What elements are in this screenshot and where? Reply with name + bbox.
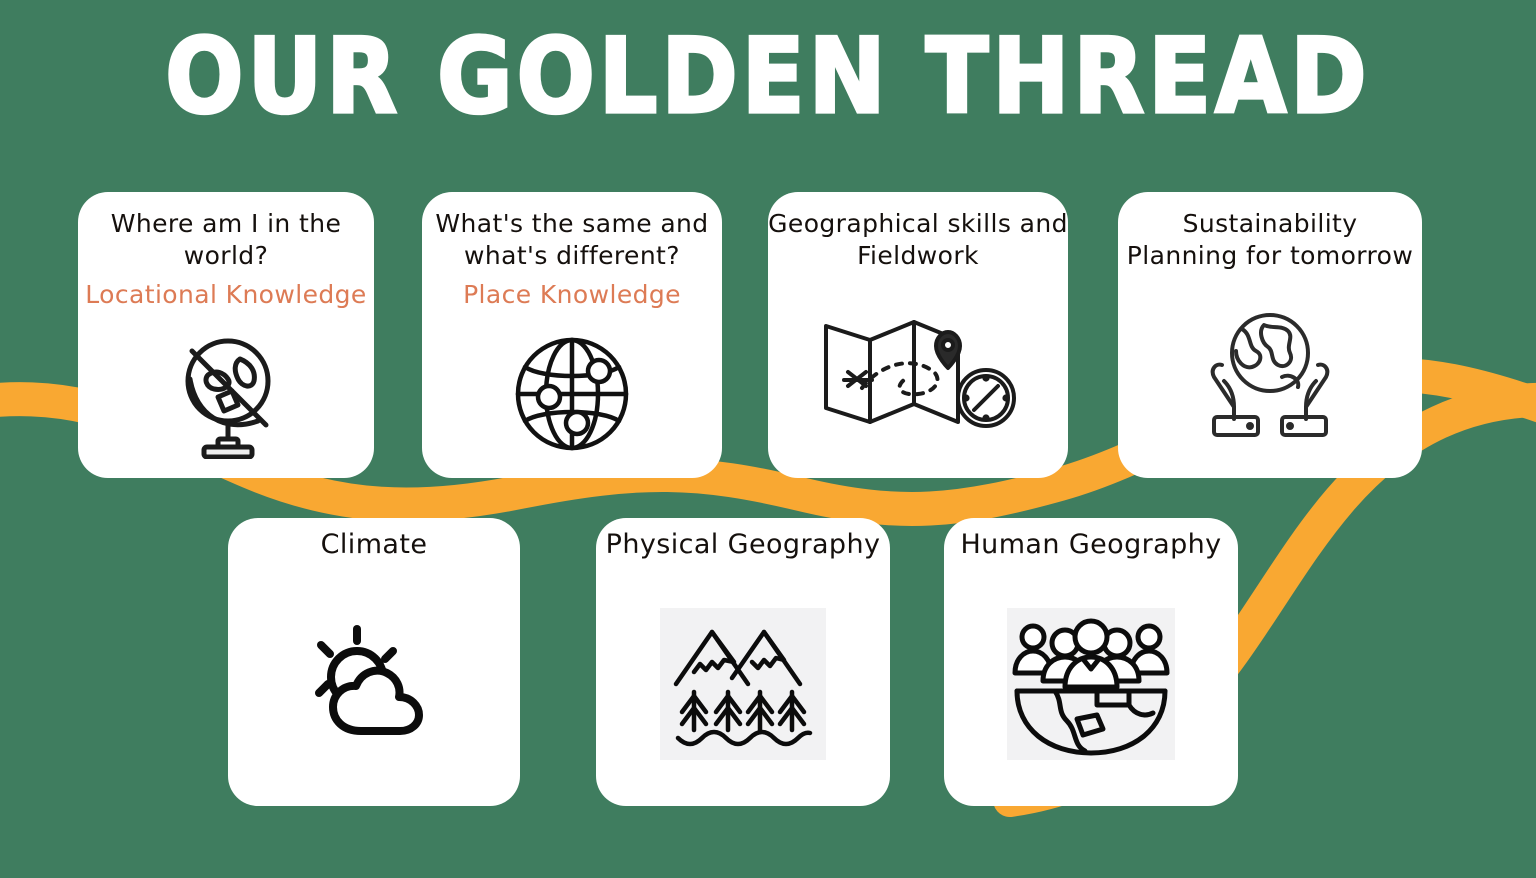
desk-globe-icon [78, 310, 374, 478]
card-sustainability[interactable]: Sustainability Planning for tomorrow [1118, 192, 1422, 478]
sun-behind-cloud-icon [228, 563, 520, 806]
card-locational-knowledge[interactable]: Where am I in the world? Locational Know… [78, 192, 374, 478]
card-place-knowledge[interactable]: What's the same and what's different? Pl… [422, 192, 722, 478]
mountains-trees-water-icon [672, 618, 814, 750]
icon-backing-plate [660, 608, 826, 760]
card-climate[interactable]: Climate [228, 518, 520, 806]
card-icon-slot [944, 563, 1238, 806]
card-heading: Climate [228, 528, 520, 563]
folded-map-compass-icon [768, 272, 1068, 478]
poster-canvas: Our Golden Thread Where am I in the worl… [0, 0, 1536, 878]
card-heading: Human Geography [944, 528, 1238, 563]
card-physical-geography[interactable]: Physical Geography [596, 518, 890, 806]
icon-backing-plate [1007, 608, 1175, 760]
card-subheading: Place Knowledge [422, 279, 722, 310]
card-geographical-skills-fieldwork[interactable]: Geographical skills and Fieldwork [768, 192, 1068, 478]
hands-holding-globe-icon [1118, 272, 1422, 478]
wireframe-globe-nodes-icon [422, 310, 722, 478]
page-title: Our Golden Thread [0, 26, 1536, 129]
card-heading: Sustainability Planning for tomorrow [1118, 208, 1422, 272]
card-heading: Where am I in the world? [78, 208, 374, 272]
card-heading: Physical Geography [596, 528, 890, 563]
people-over-globe-icon [1011, 611, 1171, 757]
card-heading: Geographical skills and Fieldwork [768, 208, 1068, 272]
card-icon-slot [596, 563, 890, 806]
card-subheading: Locational Knowledge [78, 279, 374, 310]
card-human-geography[interactable]: Human Geography [944, 518, 1238, 806]
card-heading: What's the same and what's different? [422, 208, 722, 272]
